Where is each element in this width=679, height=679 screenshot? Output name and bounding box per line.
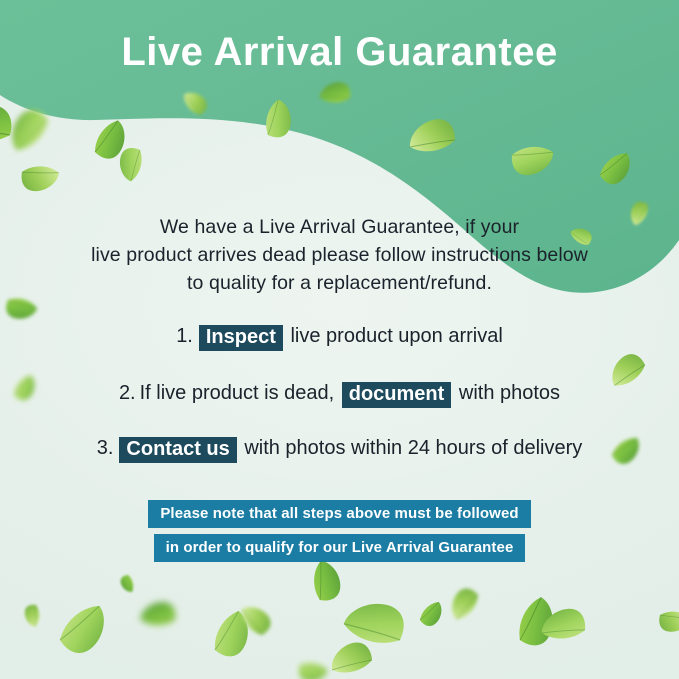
step-1: 1.Inspect live product upon arrival bbox=[40, 324, 639, 350]
content-area: We have a Live Arrival Guarantee, if you… bbox=[0, 0, 679, 679]
step-3-number: 3. bbox=[97, 437, 114, 459]
intro-line-1: We have a Live Arrival Guarantee, if you… bbox=[50, 213, 629, 241]
intro-paragraph: We have a Live Arrival Guarantee, if you… bbox=[50, 213, 629, 297]
step-3-highlight[interactable]: Contact us bbox=[119, 437, 236, 463]
step-3-text-after: with photos within 24 hours of delivery bbox=[244, 437, 582, 459]
step-1-number: 1. bbox=[176, 325, 193, 347]
step-1-highlight[interactable]: Inspect bbox=[199, 325, 283, 351]
step-2: 2.If live product is dead, document with… bbox=[40, 381, 639, 407]
step-2-highlight[interactable]: document bbox=[342, 382, 452, 408]
note-banner-2: in order to qualify for our Live Arrival… bbox=[154, 534, 526, 562]
step-2-text-before: If live product is dead, bbox=[140, 382, 335, 404]
notes-banners: Please note that all steps above must be… bbox=[0, 500, 679, 562]
step-2-text-after: with photos bbox=[459, 382, 560, 404]
step-3: 3.Contact us with photos within 24 hours… bbox=[40, 436, 639, 462]
step-2-number: 2. bbox=[119, 382, 136, 404]
step-1-text-after: live product upon arrival bbox=[290, 325, 502, 347]
live-arrival-guarantee-card: Live Arrival Guarantee bbox=[0, 0, 679, 679]
page-title: Live Arrival Guarantee bbox=[0, 30, 679, 75]
intro-line-2: live product arrives dead please follow … bbox=[50, 241, 629, 269]
note-banner-1: Please note that all steps above must be… bbox=[148, 500, 530, 528]
intro-line-3: to quality for a replacement/refund. bbox=[50, 269, 629, 297]
